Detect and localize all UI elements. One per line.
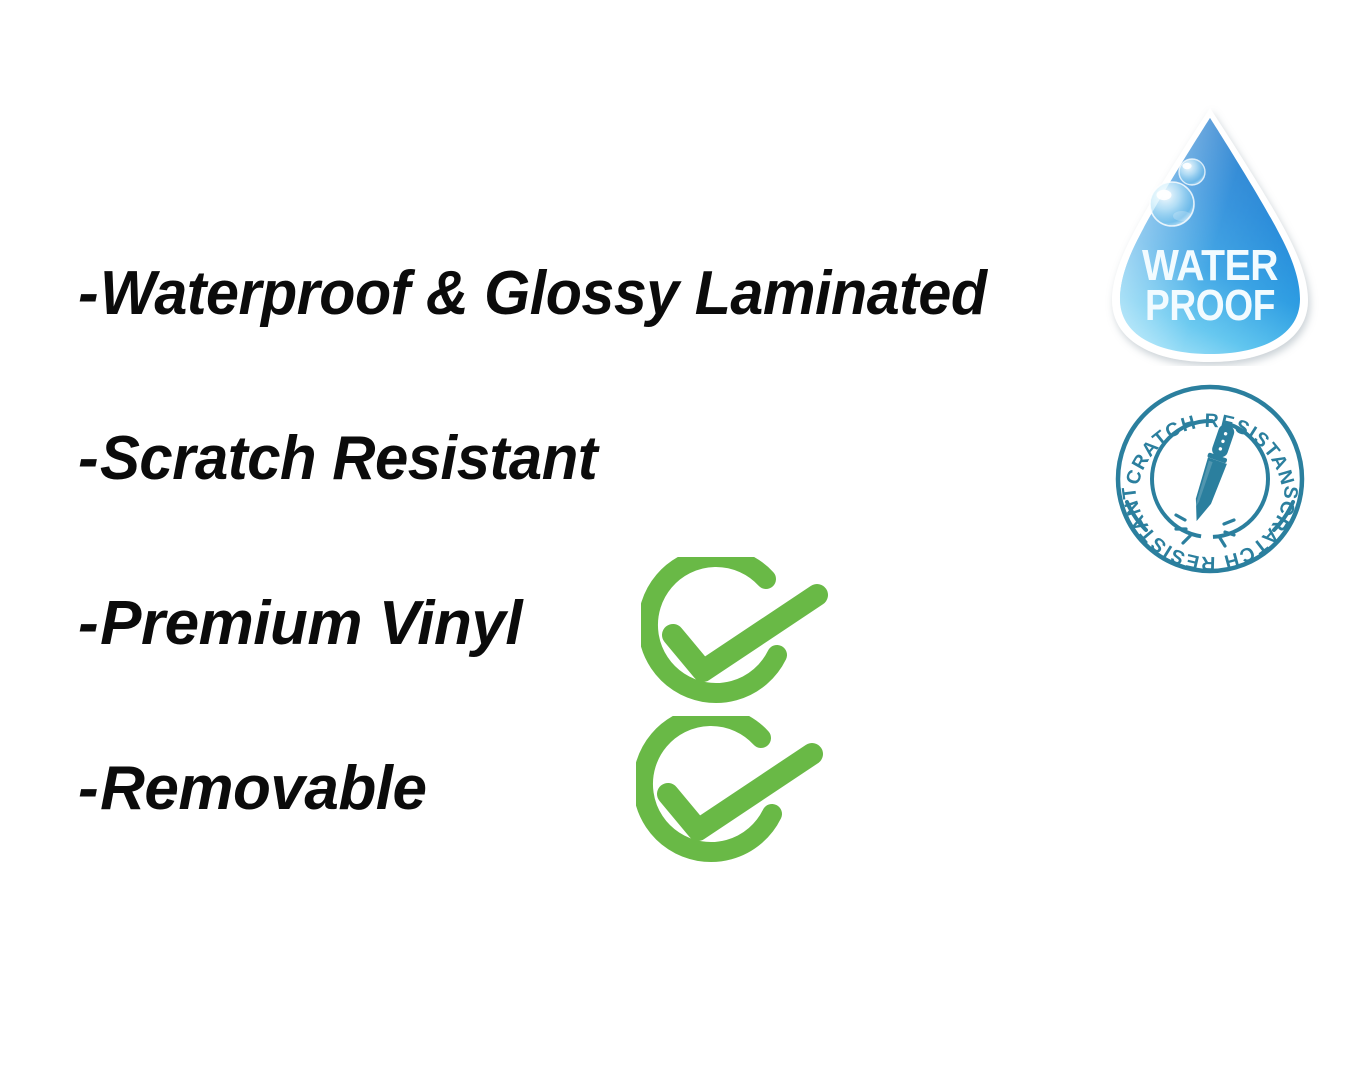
- check-tick-icon: [668, 754, 812, 830]
- bubble-large-icon: [1150, 182, 1194, 226]
- impact-spark-icon: [1176, 515, 1234, 546]
- feature-item-waterproof: -Waterproof & Glossy Laminated: [78, 263, 1028, 325]
- feature-item-removable: -Removable: [78, 758, 426, 820]
- scratch-resistant-badge: SCRATCH RESISTANT SCRATCH RESISTANT: [1112, 384, 1308, 574]
- feature-label: Waterproof & Glossy Laminated: [100, 263, 987, 325]
- check-tick-icon: [673, 595, 817, 671]
- check-mark-premium-vinyl: [641, 557, 841, 717]
- feature-label: Premium Vinyl: [100, 593, 522, 655]
- feature-bullet-dash: -: [78, 263, 98, 325]
- feature-item-scratch-resistant: -Scratch Resistant: [78, 428, 615, 490]
- feature-bullet-dash: -: [78, 758, 98, 820]
- feature-label: Scratch Resistant: [100, 428, 597, 490]
- feature-bullet-dash: -: [78, 428, 98, 490]
- knife-icon: [1186, 422, 1239, 524]
- waterproof-line2: PROOF: [1145, 281, 1275, 330]
- check-mark-removable: [636, 716, 836, 876]
- feature-label: Removable: [100, 758, 426, 820]
- feature-bullet-dash: -: [78, 593, 98, 655]
- bubble-small-icon: [1179, 159, 1205, 185]
- waterproof-badge: WATER PROOF: [1096, 104, 1324, 366]
- product-feature-graphic: -Waterproof & Glossy Laminated -Scratch …: [0, 0, 1359, 1080]
- feature-item-premium-vinyl: -Premium Vinyl: [78, 593, 522, 655]
